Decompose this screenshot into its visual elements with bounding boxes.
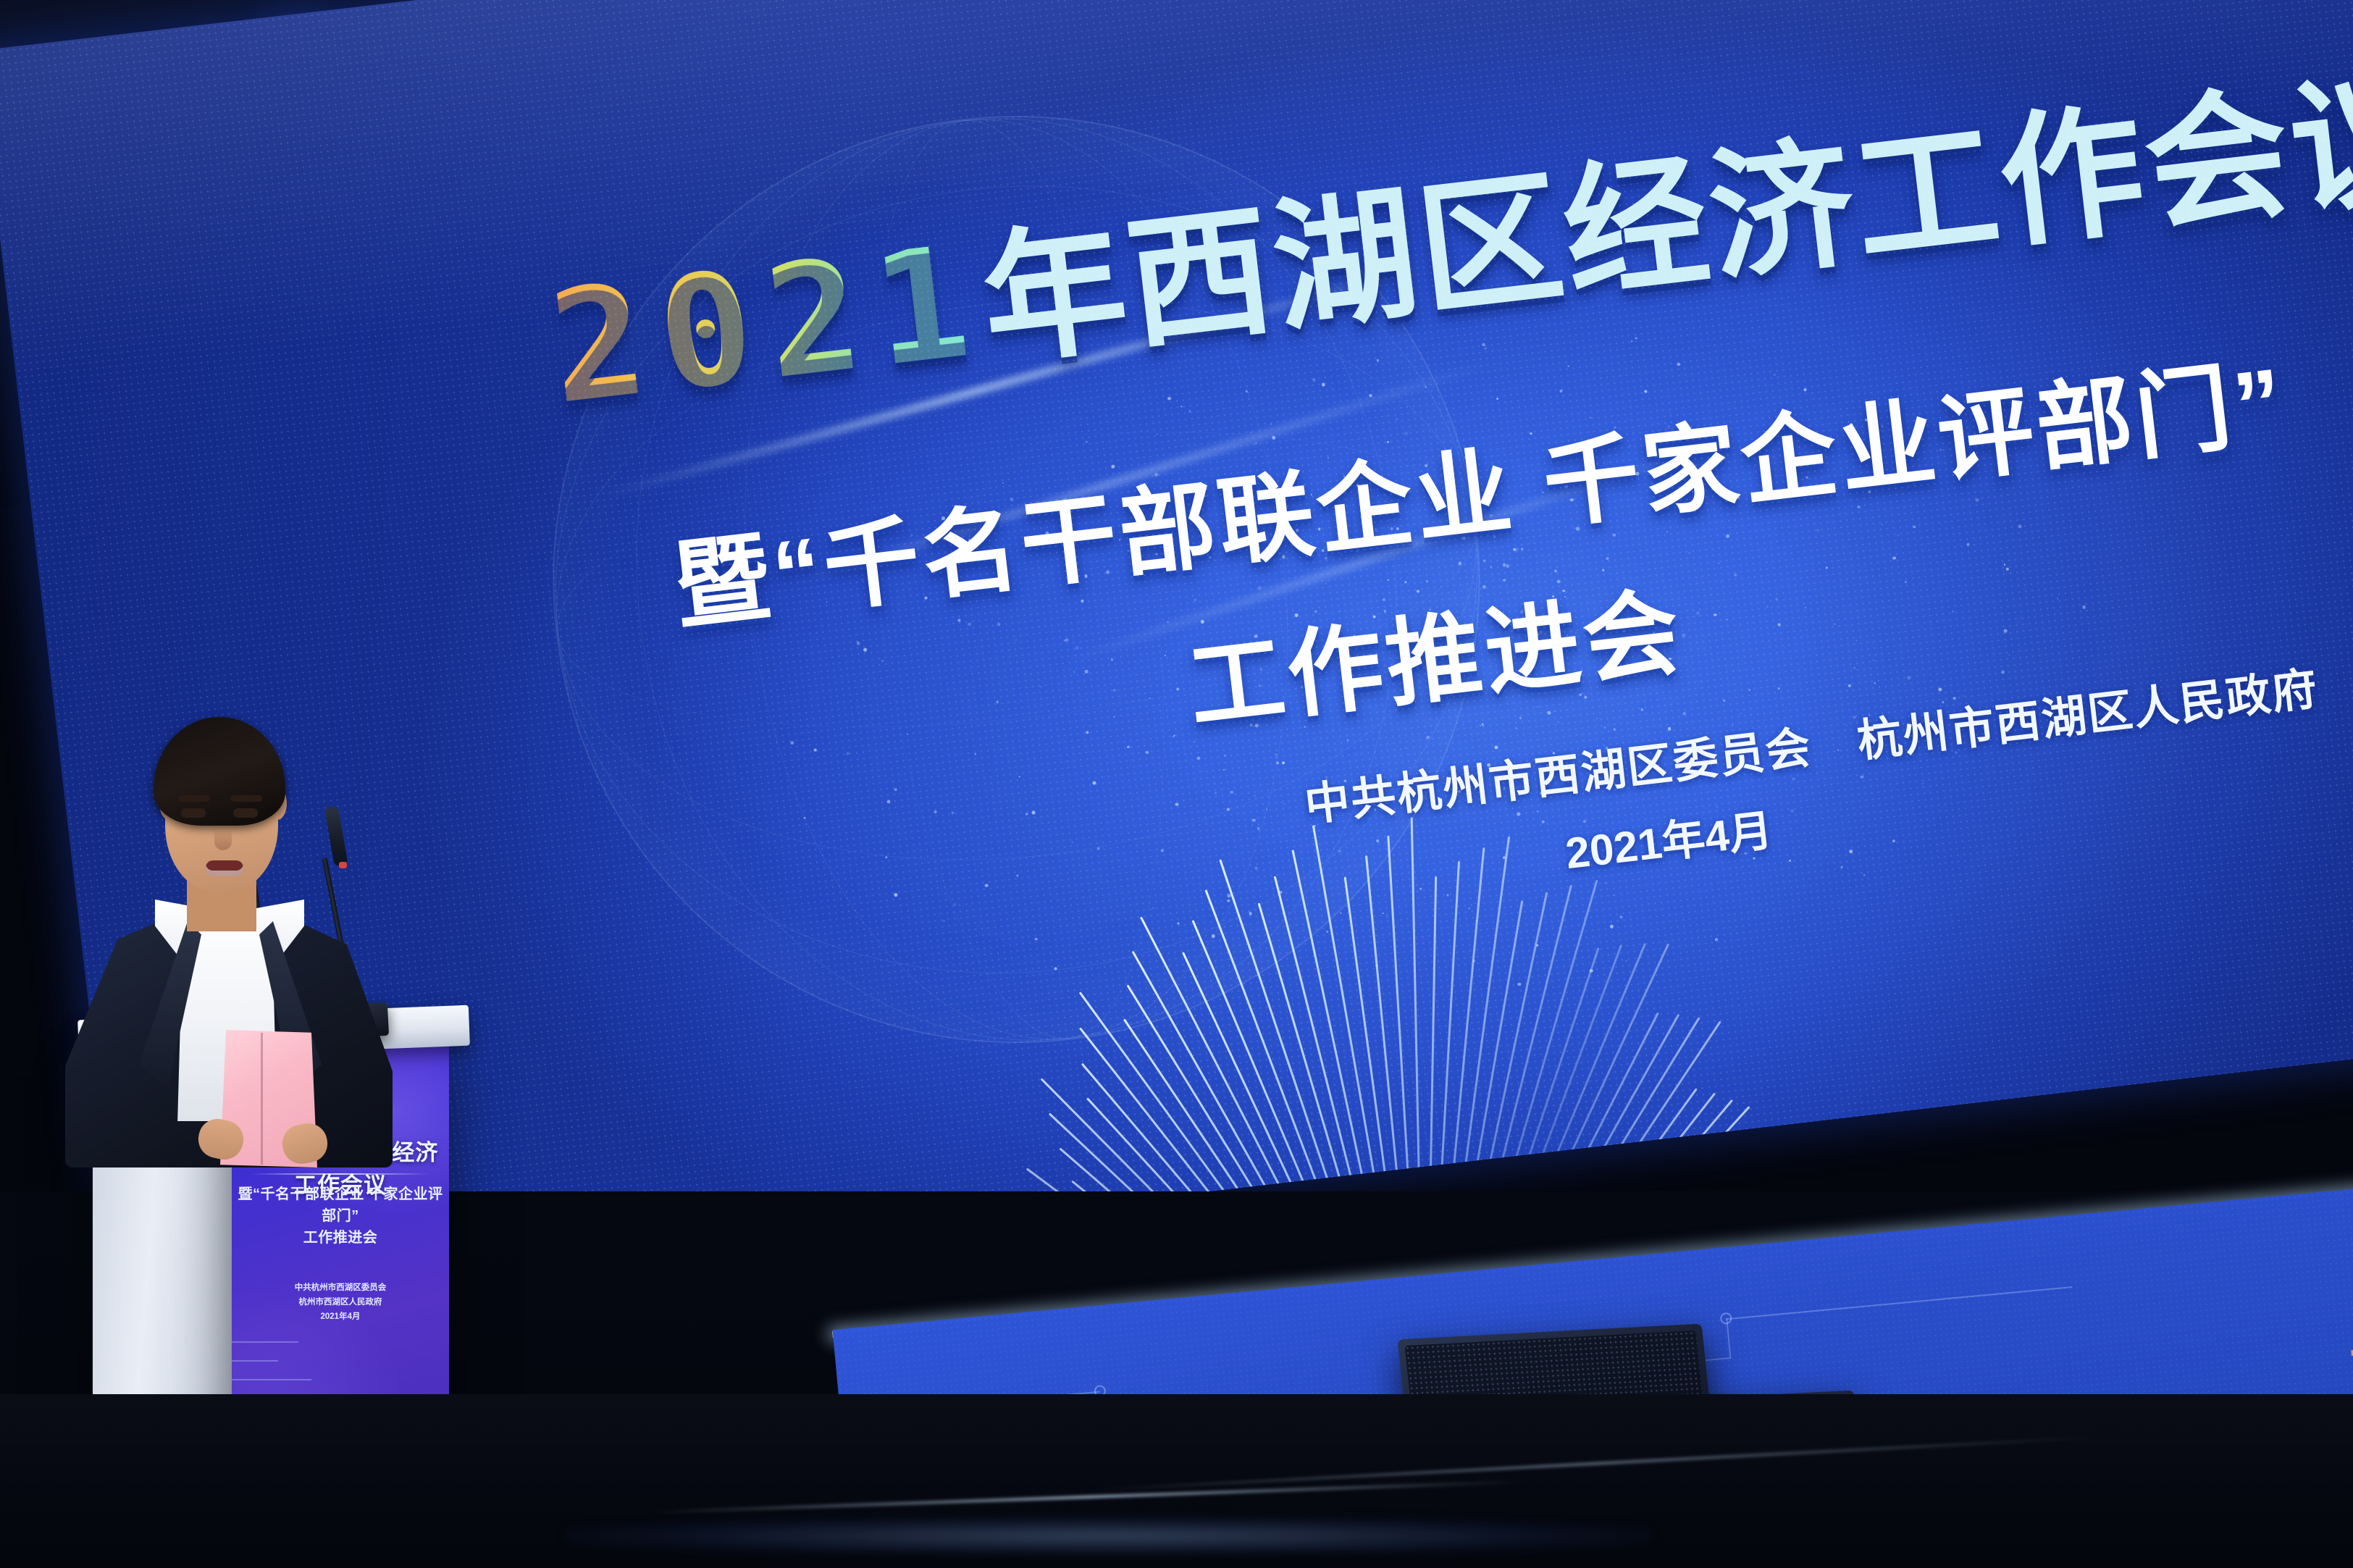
screen-title-cn: 年西湖区经济工作会议 [974,55,2353,382]
papers-fold-line [261,1033,263,1165]
podium-sign-org-line2: 杭州市西湖区人民政府 [236,1295,445,1309]
eye-left [181,808,206,818]
podium-sign-subtitle: 暨“千名干部联企业 千家企业评部门” 工作推进会 [236,1183,445,1249]
hair [154,717,285,826]
screen-subtitle-line2: 工作推进会 [1180,555,1689,749]
mouth [206,860,243,876]
podium-sign-subtitle-line1: 暨“千名干部联企业 千家企业评部门” [236,1183,445,1227]
screen-date: 2021年4月 [1561,795,1775,881]
front-floor [0,1394,2353,1568]
eye-right [233,808,258,818]
eyebrow-right [230,795,262,802]
podium-sign-divider [251,1173,430,1175]
podium-sign-org: 中共杭州市西湖区委员会 杭州市西湖区人民政府 2021年4月 [236,1280,445,1324]
speaker-person [43,717,449,1166]
podium-sign-subtitle-line2: 工作推进会 [236,1227,445,1249]
screen-title-year: 2021 [542,211,993,438]
conference-stage-scene: 2021年西湖区经济工作会议 暨“千名干部联企业 千家企业评部门” 工作推进会 … [0,0,2353,1568]
podium-sign-org-line1: 中共杭州市西湖区委员会 [236,1280,445,1295]
podium-sign-org-line3: 2021年4月 [236,1309,445,1324]
eyebrow-left [178,795,210,802]
floor-reflection-glow [565,1517,1651,1555]
nose [214,826,232,850]
